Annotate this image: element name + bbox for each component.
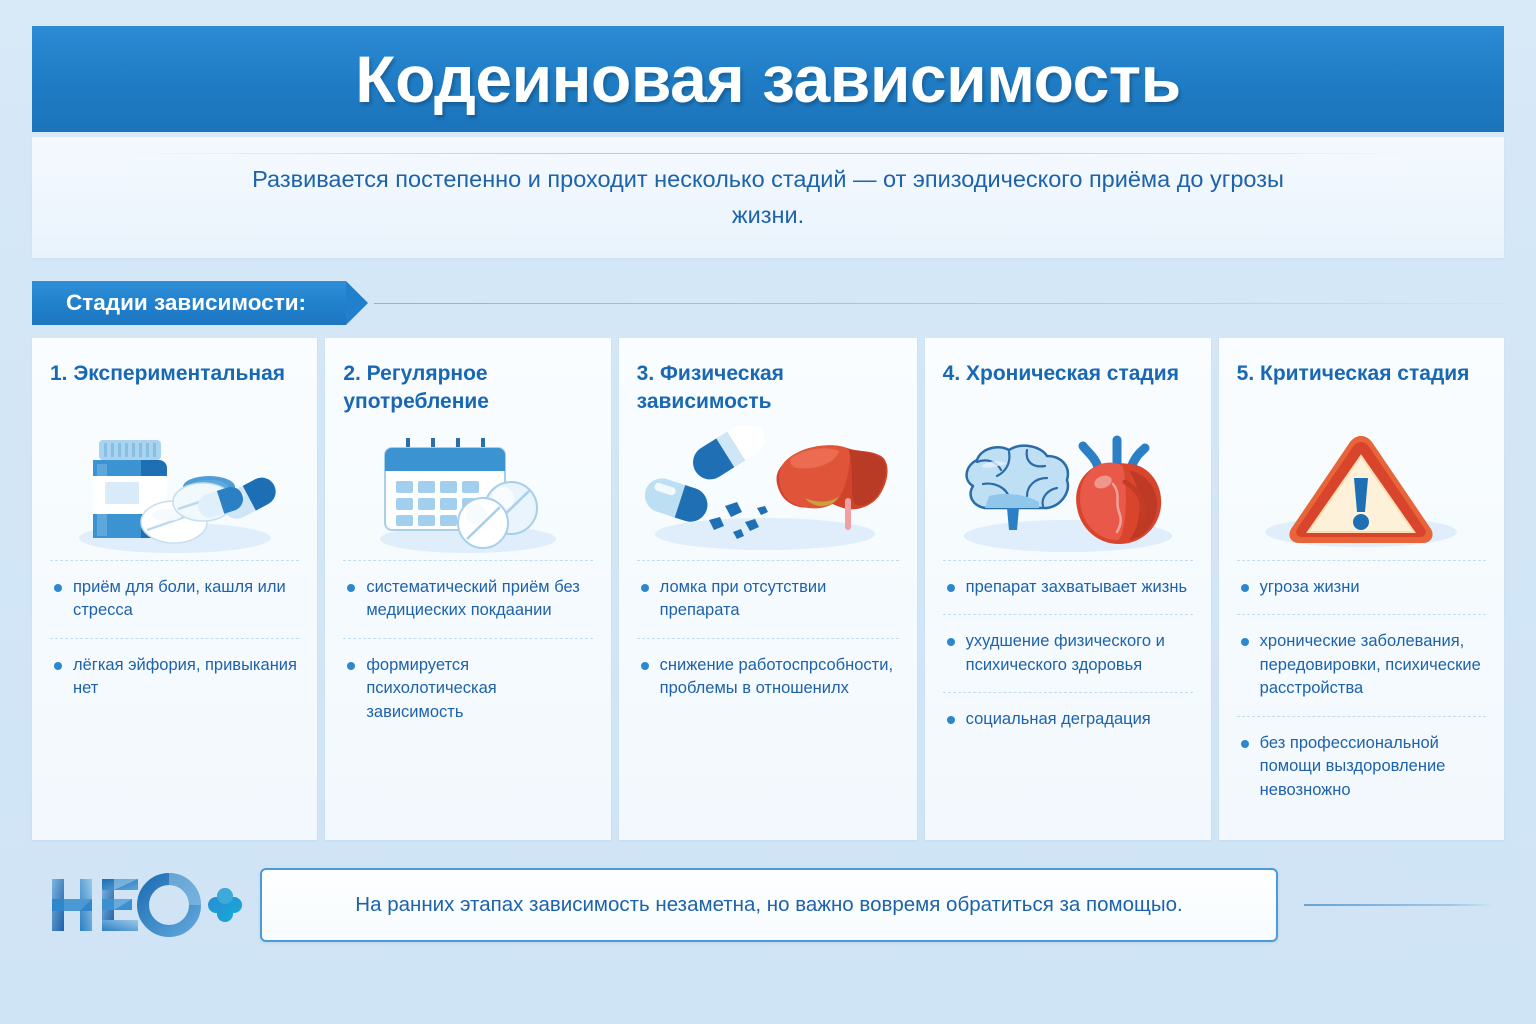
stage-cards: 1. Экспериментальная [32, 338, 1504, 840]
bullet-text: формируется психолотическая зависимость [366, 654, 590, 724]
bullet-dot-icon [1241, 638, 1249, 646]
stage-card-3[interactable]: 3. Физическая зависимость [619, 338, 917, 840]
bullet-text: систематический приём без медициеских по… [366, 576, 590, 623]
list-item: без профессиональной помощи выздоровлени… [1237, 716, 1486, 817]
bullet-list: угроза жизни хронические заболевания, пе… [1237, 560, 1486, 817]
footer: На ранних этапах зависимость незаметна, … [32, 855, 1504, 955]
header-band: Кодеиновая зависимость [32, 26, 1504, 132]
bullet-text: хронические заболевания, передовировки, … [1260, 630, 1484, 700]
stage-card-1[interactable]: 1. Экспериментальная [32, 338, 317, 840]
list-item: систематический приём без медициеских по… [343, 561, 592, 638]
brand-logo [32, 873, 260, 937]
footer-note-box: На ранних этапах зависимость незаметна, … [260, 868, 1278, 942]
list-item: лёгкая эйфория, привыкания нет [50, 638, 299, 716]
bullet-list: систематический приём без медициеских по… [343, 560, 592, 739]
section-header-row: Стадии зависимости: [32, 281, 1504, 325]
bullet-list: приём для боли, кашля или стресса лёгкая… [50, 560, 299, 716]
bullet-dot-icon [347, 662, 355, 670]
stage-card-2[interactable]: 2. Регулярное употребление [325, 338, 610, 840]
bullet-text: лёгкая эйфория, привыкания нет [73, 654, 297, 701]
bullet-dot-icon [1241, 584, 1249, 592]
bullet-dot-icon [641, 662, 649, 670]
bullet-list: препарат захватывает жизнь ухудшение физ… [943, 560, 1193, 747]
stage-card-title: 2. Регулярное употребление [343, 360, 592, 418]
list-item: препарат захватывает жизнь [943, 561, 1193, 614]
list-item: приём для боли, кашля или стресса [50, 561, 299, 638]
bullet-dot-icon [641, 584, 649, 592]
footer-divider-rule [1304, 904, 1494, 906]
subtitle-text: Развивается постепенно и проходит нескол… [248, 162, 1288, 233]
bullet-dot-icon [347, 584, 355, 592]
stage-card-5[interactable]: 5. Критическая стадия угроза жизни [1219, 338, 1504, 840]
section-tab-label: Стадии зависимости: [66, 290, 306, 316]
bullet-text: ломка при отсутствии препарата [660, 576, 897, 623]
section-tab: Стадии зависимости: [32, 281, 346, 325]
bullet-text: без профессиональной помощи выздоровлени… [1260, 732, 1484, 802]
pill-bottle-and-pills-icon [50, 424, 299, 556]
bullet-dot-icon [947, 584, 955, 592]
list-item: ухудшение физического и психического здо… [943, 614, 1193, 692]
stage-card-title: 1. Экспериментальная [50, 360, 299, 418]
open-capsules-and-liver-icon [637, 424, 899, 556]
bullet-dot-icon [1241, 740, 1249, 748]
stage-card-title: 4. Хроническая стадия [943, 360, 1193, 418]
bullet-dot-icon [54, 662, 62, 670]
list-item: формируется психолотическая зависимость [343, 638, 592, 739]
footer-note-text: На ранних этапах зависимость незаметна, … [355, 892, 1182, 919]
neo-plus-logo-icon [46, 873, 246, 937]
calendar-and-pills-icon [343, 424, 592, 556]
bullet-text: препарат захватывает жизнь [966, 576, 1191, 599]
bullet-dot-icon [947, 638, 955, 646]
stage-card-4[interactable]: 4. Хроническая стадия [925, 338, 1211, 840]
bullet-text: приём для боли, кашля или стресса [73, 576, 297, 623]
list-item: хронические заболевания, передовировки, … [1237, 614, 1486, 715]
list-item: снижение работоспрсобности, проблемы в о… [637, 638, 899, 716]
bullet-text: ухудшение физического и психического здо… [966, 630, 1191, 677]
warning-triangle-icon [1237, 424, 1486, 556]
page-title: Кодеиновая зависимость [355, 41, 1180, 117]
bullet-dot-icon [54, 584, 62, 592]
bullet-dot-icon [947, 716, 955, 724]
list-item: социальная деградация [943, 692, 1193, 746]
bullet-text: угроза жизни [1260, 576, 1484, 599]
infographic-poster: Кодеиновая зависимость Развивается посте… [0, 0, 1536, 1024]
bullet-text: снижение работоспрсобности, проблемы в о… [660, 654, 897, 701]
stage-card-title: 3. Физическая зависимость [637, 360, 899, 418]
stage-card-title: 5. Критическая стадия [1237, 360, 1486, 418]
bullet-list: ломка при отсутствии препарата снижение … [637, 560, 899, 716]
section-divider-rule [374, 303, 1504, 304]
list-item: угроза жизни [1237, 561, 1486, 614]
list-item: ломка при отсутствии препарата [637, 561, 899, 638]
subtitle-panel: Развивается постепенно и проходит нескол… [32, 137, 1504, 258]
bullet-text: социальная деградация [966, 708, 1191, 731]
brain-and-heart-icon [943, 424, 1193, 556]
